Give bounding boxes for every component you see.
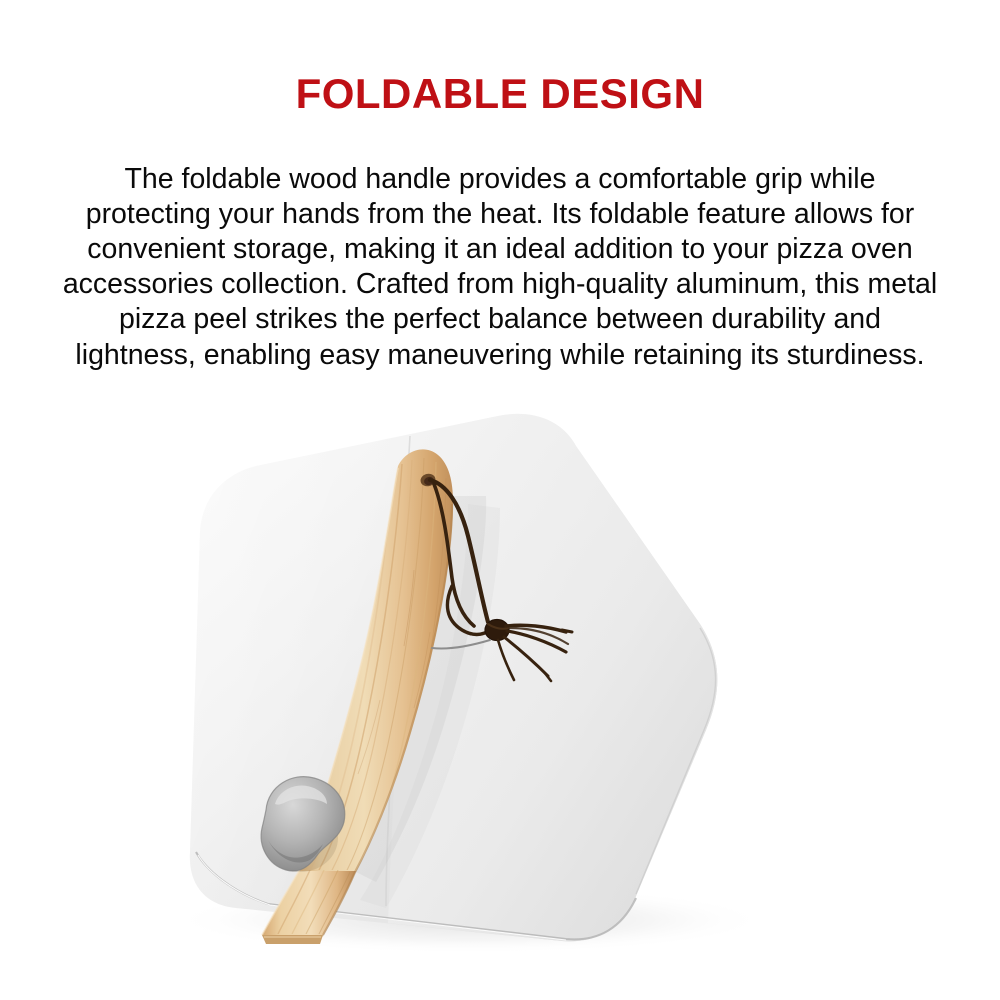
page-title: FOLDABLE DESIGN [0,72,1000,116]
product-feature-page: FOLDABLE DESIGN The foldable wood handle… [0,0,1000,1000]
product-image [0,400,1000,960]
product-description: The foldable wood handle provides a comf… [62,162,938,373]
peel-blade [190,414,718,941]
pizza-peel-illustration [0,400,1000,960]
cord-tail-tip-1 [562,630,572,632]
